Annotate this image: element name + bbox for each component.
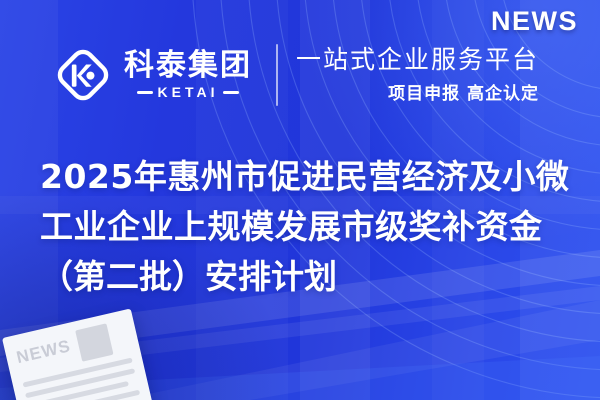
newspaper-thumbnail xyxy=(75,323,113,361)
brand-name-en-row: KETAI xyxy=(137,84,240,100)
brand-wordmark: 科泰集团 KETAI xyxy=(124,50,252,101)
wordmark-rule-left xyxy=(137,91,153,94)
newspaper-heading: NEWS xyxy=(14,332,73,366)
tagline-main: 一站式企业服务平台 xyxy=(296,46,539,75)
title-line-3: （第二批）安排计划 xyxy=(40,252,570,302)
page-title: 2025年惠州市促进民营经济及小微 工业企业上规模发展市级奖补资金 （第二批）安… xyxy=(40,152,570,302)
title-line-1: 2025年惠州市促进民营经济及小微 xyxy=(40,152,570,202)
news-badge-label: NEWS xyxy=(491,6,578,37)
title-line-2: 工业企业上规模发展市级奖补资金 xyxy=(40,202,570,252)
header-divider xyxy=(276,44,278,106)
news-banner: NEWS 科泰集团 KETAI xyxy=(0,0,600,400)
wordmark-rule-right xyxy=(223,91,239,94)
brand-name-en: KETAI xyxy=(158,84,219,100)
tagline-sub: 项目申报 高企认定 xyxy=(296,79,539,104)
brand-header: 科泰集团 KETAI 一站式企业服务平台 项目申报 高企认定 xyxy=(52,36,539,114)
ketai-diamond-monogram-icon xyxy=(52,44,114,106)
brand-name-cn: 科泰集团 xyxy=(124,50,252,82)
tagline-block: 一站式企业服务平台 项目申报 高企认定 xyxy=(296,46,539,105)
